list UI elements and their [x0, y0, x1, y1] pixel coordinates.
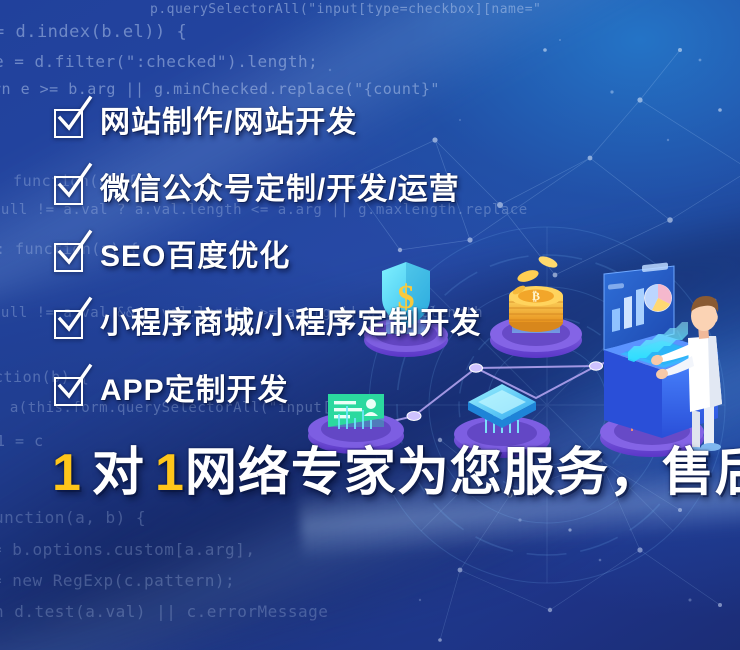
headline-slogan: 1 对 1 网络专家为您服务，售后无忧！ — [52, 447, 740, 499]
checkbox-checked-icon[interactable] — [54, 176, 83, 205]
feature-item-wechat[interactable]: 微信公众号定制/开发/运营 — [54, 167, 694, 213]
checkbox-checked-icon[interactable] — [54, 243, 83, 272]
feature-label: 微信公众号定制/开发/运营 — [100, 175, 460, 205]
feature-label: 网站制作/网站开发 — [100, 108, 357, 138]
feature-label: SEO百度优化 — [100, 242, 290, 272]
promo-banner: p.querySelectorAll("input[type=checkbox]… — [0, 0, 740, 650]
code-line: unction(a, b) { — [0, 508, 146, 527]
check-mark-icon — [52, 230, 96, 274]
code-line: = b.options.custom[a.arg], — [0, 540, 255, 559]
check-mark-icon — [52, 297, 96, 341]
feature-label: 小程序商城/小程序定制开发 — [100, 309, 481, 339]
code-line: = d.index(b.el)) { — [0, 22, 187, 42]
check-mark-icon — [52, 96, 96, 140]
feature-item-app[interactable]: APP定制开发 — [54, 368, 694, 414]
check-mark-icon — [52, 163, 96, 207]
network-constellation-bottom-icon — [420, 400, 740, 650]
feature-list: 网站制作/网站开发 微信公众号定制/开发/运营 SEO百度优化 — [54, 100, 694, 435]
code-line: p.querySelectorAll("input[type=checkbox]… — [150, 2, 541, 17]
checkbox-checked-icon[interactable] — [54, 310, 83, 339]
code-line: 1 = c — [0, 432, 44, 450]
code-line: n d.test(a.val) || c.errorMessage — [0, 602, 328, 621]
feature-item-miniprogram[interactable]: 小程序商城/小程序定制开发 — [54, 301, 694, 347]
feature-item-seo[interactable]: SEO百度优化 — [54, 234, 694, 280]
feature-item-website[interactable]: 网站制作/网站开发 — [54, 100, 694, 146]
check-mark-icon — [52, 364, 96, 408]
checkbox-checked-icon[interactable] — [54, 377, 83, 406]
feature-label: APP定制开发 — [100, 376, 289, 406]
code-line: e = d.filter(":checked").length; — [0, 52, 318, 71]
code-line: = new RegExp(c.pattern); — [0, 571, 235, 590]
headline-middle-word: 对 — [92, 447, 145, 499]
checkbox-checked-icon[interactable] — [54, 109, 83, 138]
headline-tail-text: 网络专家为您服务，售后无忧！ — [185, 447, 740, 499]
headline-number-first: 1 — [52, 447, 82, 499]
headline-number-second: 1 — [155, 447, 185, 499]
